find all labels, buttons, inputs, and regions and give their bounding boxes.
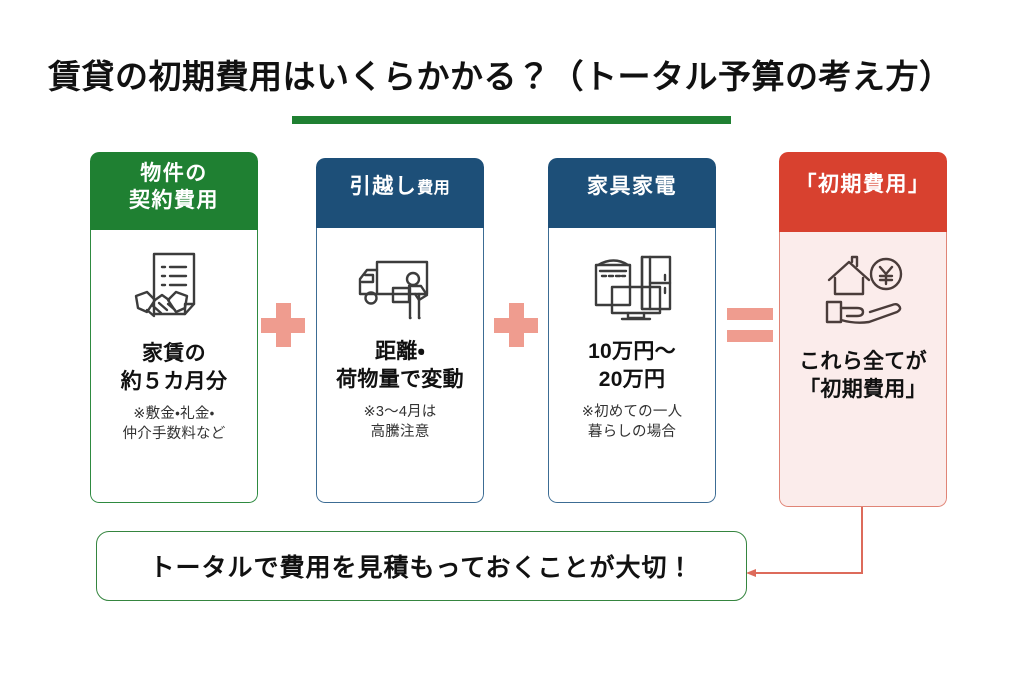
card-moving-note-line1: ※3〜4月は: [317, 402, 483, 422]
home-appliances-icon: [549, 240, 715, 332]
equals-bar-bottom: [727, 330, 773, 342]
card-total-header-main: 「初期費用」: [796, 173, 931, 196]
card-contract-value-line2: 約５カ月分: [91, 368, 257, 396]
card-moving-value-line1: 距離・: [317, 338, 483, 366]
card-total-body: これら全てが 「初期費用」: [779, 232, 947, 507]
page-title: 賃貸の初期費用はいくらかかる？（トータル予算の考え方）: [48, 50, 978, 98]
card-contract-value-line1: 家賃の: [91, 340, 257, 368]
card-appliance-note-line2: 暮らしの場合: [549, 422, 715, 442]
card-contract-note: ※敷金・礼金・ 仲介手数料など: [91, 404, 257, 444]
card-appliance: 家具家電 10万円〜: [548, 158, 716, 503]
equals-bar-top: [727, 308, 773, 320]
card-total: 「初期費用」 これら全てが 「初期費用」: [779, 152, 947, 507]
card-moving-note-line2: 高騰注意: [317, 422, 483, 442]
title-underline-bar: [292, 116, 731, 124]
moving-truck-icon: [317, 240, 483, 332]
card-appliance-note: ※初めての一人 暮らしの場合: [549, 402, 715, 442]
card-contract-header-line1: 物件の: [90, 161, 258, 188]
equals-operator: [727, 308, 773, 342]
card-total-value: これら全てが 「初期費用」: [780, 348, 946, 403]
card-moving-value-line2: 荷物量で変動: [317, 366, 483, 394]
plus-operator-2: [494, 303, 538, 347]
card-appliance-value-line2: 20万円: [549, 366, 715, 394]
summary-banner-text: トータルで費用を見積もっておくことが大切！: [149, 548, 693, 584]
card-contract-note-line1: ※敷金・礼金・: [91, 404, 257, 424]
contract-handshake-icon: [91, 242, 257, 334]
flow-arrow: [730, 500, 890, 590]
card-total-value-line1: これら全てが: [780, 348, 946, 376]
card-moving: 引越し費用 距離・ 荷物量で変動: [316, 158, 484, 503]
card-appliance-value: 10万円〜 20万円: [549, 338, 715, 393]
card-total-value-line2: 「初期費用」: [780, 376, 946, 404]
card-contract-header: 物件の 契約費用: [90, 152, 258, 230]
card-moving-header-main: 引越し: [350, 175, 418, 198]
card-appliance-value-line1: 10万円〜: [549, 338, 715, 366]
card-contract-body: 家賃の 約５カ月分 ※敷金・礼金・ 仲介手数料など: [90, 230, 258, 503]
card-appliance-body: 10万円〜 20万円 ※初めての一人 暮らしの場合: [548, 228, 716, 503]
card-moving-body: 距離・ 荷物量で変動 ※3〜4月は 高騰注意: [316, 228, 484, 503]
card-moving-note: ※3〜4月は 高騰注意: [317, 402, 483, 442]
summary-banner: トータルで費用を見積もっておくことが大切！: [96, 531, 747, 601]
card-contract-value: 家賃の 約５カ月分: [91, 340, 257, 395]
card-appliance-header: 家具家電: [548, 158, 716, 228]
card-moving-value: 距離・ 荷物量で変動: [317, 338, 483, 393]
card-appliance-note-line1: ※初めての一人: [549, 402, 715, 422]
card-moving-header: 引越し費用: [316, 158, 484, 228]
infographic-canvas: 賃貸の初期費用はいくらかかる？（トータル予算の考え方） 物件の 契約費用: [0, 0, 1024, 683]
card-contract-header-line2: 契約費用: [90, 188, 258, 215]
card-contract-note-line2: 仲介手数料など: [91, 424, 257, 444]
plus-operator-1: [261, 303, 305, 347]
card-total-header: 「初期費用」: [779, 152, 947, 232]
card-moving-header-sub: 費用: [417, 180, 450, 197]
house-yen-on-hand-icon: [780, 244, 946, 336]
card-appliance-header-main: 家具家電: [587, 175, 677, 198]
card-contract: 物件の 契約費用 家賃の 約５カ月分: [90, 152, 258, 503]
